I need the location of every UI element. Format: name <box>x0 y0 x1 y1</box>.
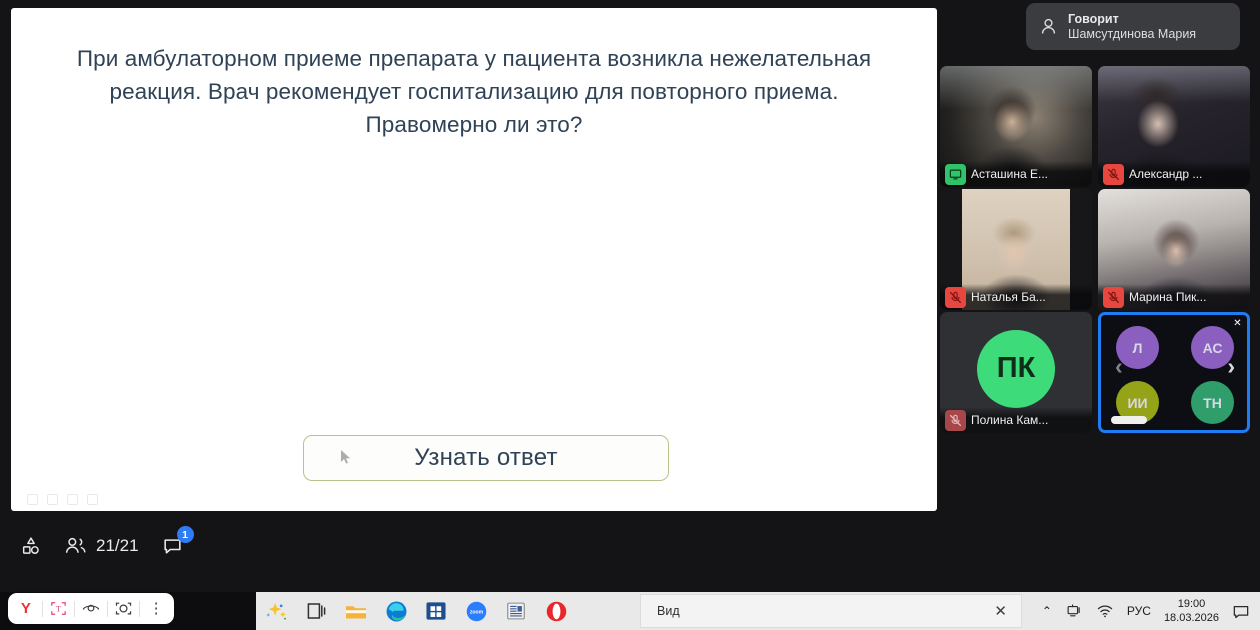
tray-expand-icon[interactable]: ⌃ <box>1042 604 1052 618</box>
speaking-indicator <box>1111 416 1147 424</box>
zoom-icon[interactable]: zoom <box>464 599 488 623</box>
opera-icon[interactable] <box>544 599 568 623</box>
avatar-initials: ПК <box>997 352 1036 385</box>
slide-fullscreen-icon[interactable] <box>67 494 78 505</box>
chat-unread-badge: 1 <box>177 526 194 543</box>
clock-time: 19:00 <box>1164 597 1219 611</box>
avatar-grid: Л АС ИИ ТН <box>1101 315 1247 430</box>
system-tray: ⌃ РУС 19:00 18.03.2026 <box>1042 592 1260 630</box>
grid-avatar-initials: ИИ <box>1127 395 1147 411</box>
taskbar-window-button[interactable]: Вид ✕ <box>640 594 1022 628</box>
screen-share-icon <box>945 164 966 185</box>
grid-avatar-initials: ТН <box>1203 395 1222 411</box>
tile-row: Асташина Е... Алек <box>940 66 1250 187</box>
mic-off-icon <box>945 410 966 431</box>
tile-row: Наталья Ба... Мари <box>940 189 1250 310</box>
avatar: ПК <box>977 330 1055 408</box>
reveal-answer-button[interactable]: Узнать ответ <box>303 435 669 481</box>
tile-name-label: Наталья Ба... <box>971 290 1046 304</box>
more-menu-icon[interactable]: ⋮ <box>145 597 167 621</box>
people-icon <box>64 535 88 557</box>
speaker-status: Говорит <box>1068 12 1196 27</box>
participant-tile-aleksandr[interactable]: Александр ... <box>1098 66 1250 187</box>
input-language[interactable]: РУС <box>1127 604 1151 618</box>
grid-avatar-initials: Л <box>1133 340 1143 356</box>
eye-icon[interactable] <box>80 597 102 621</box>
chat-button[interactable]: 1 <box>161 535 184 557</box>
slide-menu-icon[interactable] <box>87 494 98 505</box>
taskbar-window-title: Вид <box>657 604 994 618</box>
notification-icon[interactable] <box>1232 603 1250 620</box>
toolbar-left-group: 21/21 1 <box>20 535 184 557</box>
divider <box>139 601 140 617</box>
windows-taskbar: zoom Вид ✕ ⌃ <box>0 592 1260 630</box>
participant-tile-polina[interactable]: ПК Полина Кам... <box>940 312 1092 433</box>
reactions-button[interactable] <box>20 535 42 557</box>
person-icon <box>1038 16 1059 37</box>
app-root: При амбулаторном приеме препарата у паци… <box>0 0 1260 630</box>
file-explorer-icon[interactable] <box>344 599 368 623</box>
slide-controls[interactable] <box>27 494 98 505</box>
speaker-name: Шамсутдинова Мария <box>1068 27 1196 42</box>
close-icon[interactable]: ✕ <box>1231 317 1244 330</box>
tile-namebar: Полина Кам... <box>940 407 1092 433</box>
divider <box>42 601 43 617</box>
svg-text:zoom: zoom <box>469 609 483 615</box>
mic-off-icon <box>1103 164 1124 185</box>
slide-question-text: При амбулаторном приеме препарата у паци… <box>63 42 885 141</box>
slide-next-icon[interactable] <box>47 494 58 505</box>
svg-text:T: T <box>56 605 61 614</box>
slide-prev-icon[interactable] <box>27 494 38 505</box>
wifi-icon[interactable] <box>1096 603 1114 619</box>
clock[interactable]: 19:00 18.03.2026 <box>1164 597 1219 625</box>
active-speaker-banner: Говорит Шамсутдинова Мария <box>1026 3 1240 50</box>
participant-tile-natalya[interactable]: Наталья Ба... <box>940 189 1092 310</box>
grid-prev-icon[interactable]: ‹ <box>1115 355 1123 378</box>
participants-count: 21/21 <box>96 536 139 556</box>
tile-namebar: Наталья Ба... <box>940 284 1092 310</box>
tile-name-label: Полина Кам... <box>971 413 1048 427</box>
shapes-icon <box>20 535 42 557</box>
news-icon[interactable] <box>504 599 528 623</box>
shared-screen-slide[interactable]: При амбулаторном приеме препарата у паци… <box>11 8 937 511</box>
tile-namebar: Александр ... <box>1098 161 1250 187</box>
scan-camera-icon[interactable] <box>113 597 135 621</box>
grid-avatar: ТН <box>1191 381 1234 424</box>
reveal-answer-label: Узнать ответ <box>414 444 557 472</box>
conference-area: При амбулаторном приеме препарата у паци… <box>0 0 1260 592</box>
taskbar-app-icons: zoom <box>264 592 568 630</box>
mic-off-icon <box>1103 287 1124 308</box>
participant-grid-tile[interactable]: Л АС ИИ ТН ‹ › <box>1098 312 1250 433</box>
meeting-toolbar: 21/21 1 <box>0 518 1260 592</box>
close-icon[interactable]: ✕ <box>994 602 1007 620</box>
tile-row: ПК Полина Кам... <box>940 312 1250 433</box>
yandex-capture-toolbar[interactable]: Y T ⋮ <box>8 593 174 624</box>
participant-tiles: Асташина Е... Алек <box>940 66 1250 435</box>
microsoft-store-icon[interactable] <box>424 599 448 623</box>
divider <box>107 601 108 617</box>
grid-next-icon[interactable]: › <box>1227 355 1235 378</box>
text-recognition-icon[interactable]: T <box>48 597 70 621</box>
task-view-icon[interactable] <box>304 599 328 623</box>
copilot-icon[interactable] <box>264 599 288 623</box>
tile-namebar: Асташина Е... <box>940 161 1092 187</box>
edge-icon[interactable] <box>384 599 408 623</box>
mic-off-icon <box>945 287 966 308</box>
tile-namebar: Марина Пик... <box>1098 284 1250 310</box>
divider <box>74 601 75 617</box>
participant-tile-marina[interactable]: Марина Пик... <box>1098 189 1250 310</box>
display-icon[interactable] <box>1065 603 1083 619</box>
tile-name-label: Александр ... <box>1129 167 1202 181</box>
clock-date: 18.03.2026 <box>1164 611 1219 625</box>
participants-button[interactable]: 21/21 <box>64 535 139 557</box>
mouse-cursor-icon <box>341 450 351 464</box>
tile-name-label: Марина Пик... <box>1129 290 1206 304</box>
grid-avatar-initials: АС <box>1203 340 1223 356</box>
yandex-logo-icon: Y <box>15 597 37 621</box>
participant-tile-astashina[interactable]: Асташина Е... <box>940 66 1092 187</box>
tile-name-label: Асташина Е... <box>971 167 1048 181</box>
